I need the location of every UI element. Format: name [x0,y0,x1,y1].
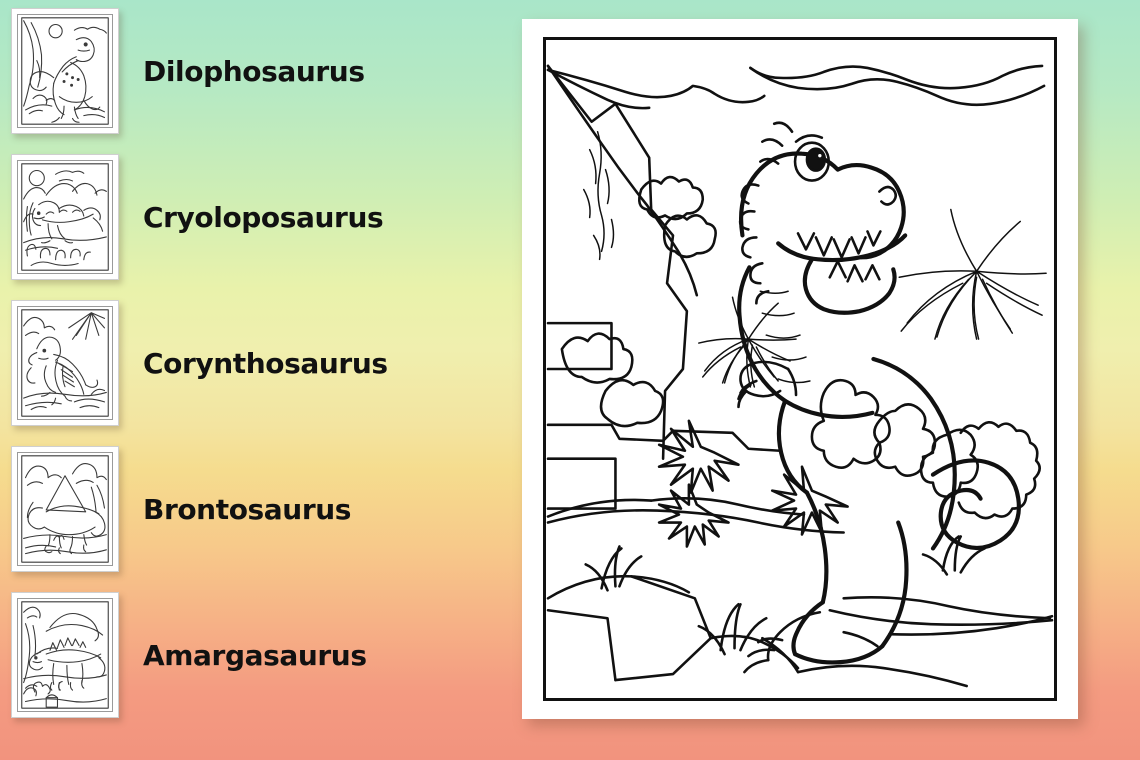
thumbnail-art-corynthosaurus [17,306,113,420]
thumbnail-card-brontosaurus[interactable] [11,446,119,572]
trex-illustration [546,40,1054,698]
cryoloposaurus-illustration [18,161,112,273]
featured-coloring-page[interactable] [522,19,1078,719]
thumbnail-card-dilophosaurus[interactable] [11,8,119,134]
thumbnail-label: Cryoloposaurus [143,201,383,234]
thumbnail-card-corynthosaurus[interactable] [11,300,119,426]
thumbnail-art-dilophosaurus [17,14,113,128]
thumbnail-label: Dilophosaurus [143,55,365,88]
corynthosaurus-illustration [18,307,112,419]
list-item[interactable]: Dilophosaurus [0,8,470,134]
thumbnail-card-cryoloposaurus[interactable] [11,154,119,280]
thumbnail-label: Brontosaurus [143,493,351,526]
brontosaurus-illustration [18,453,112,565]
list-item[interactable]: Brontosaurus [0,446,470,572]
dilophosaurus-illustration [18,15,112,127]
thumbnail-list: Dilophosaurus [0,0,470,760]
thumbnail-art-amargasaurus [17,598,113,712]
list-item[interactable]: Corynthosaurus [0,300,470,426]
featured-page-frame [543,37,1057,701]
thumbnail-label: Amargasaurus [143,639,367,672]
amargasaurus-illustration [18,599,112,711]
list-item[interactable]: Cryoloposaurus [0,154,470,280]
thumbnail-label: Corynthosaurus [143,347,388,380]
thumbnail-art-cryoloposaurus [17,160,113,274]
thumbnail-art-brontosaurus [17,452,113,566]
thumbnail-card-amargasaurus[interactable] [11,592,119,718]
list-item[interactable]: Amargasaurus [0,592,470,718]
